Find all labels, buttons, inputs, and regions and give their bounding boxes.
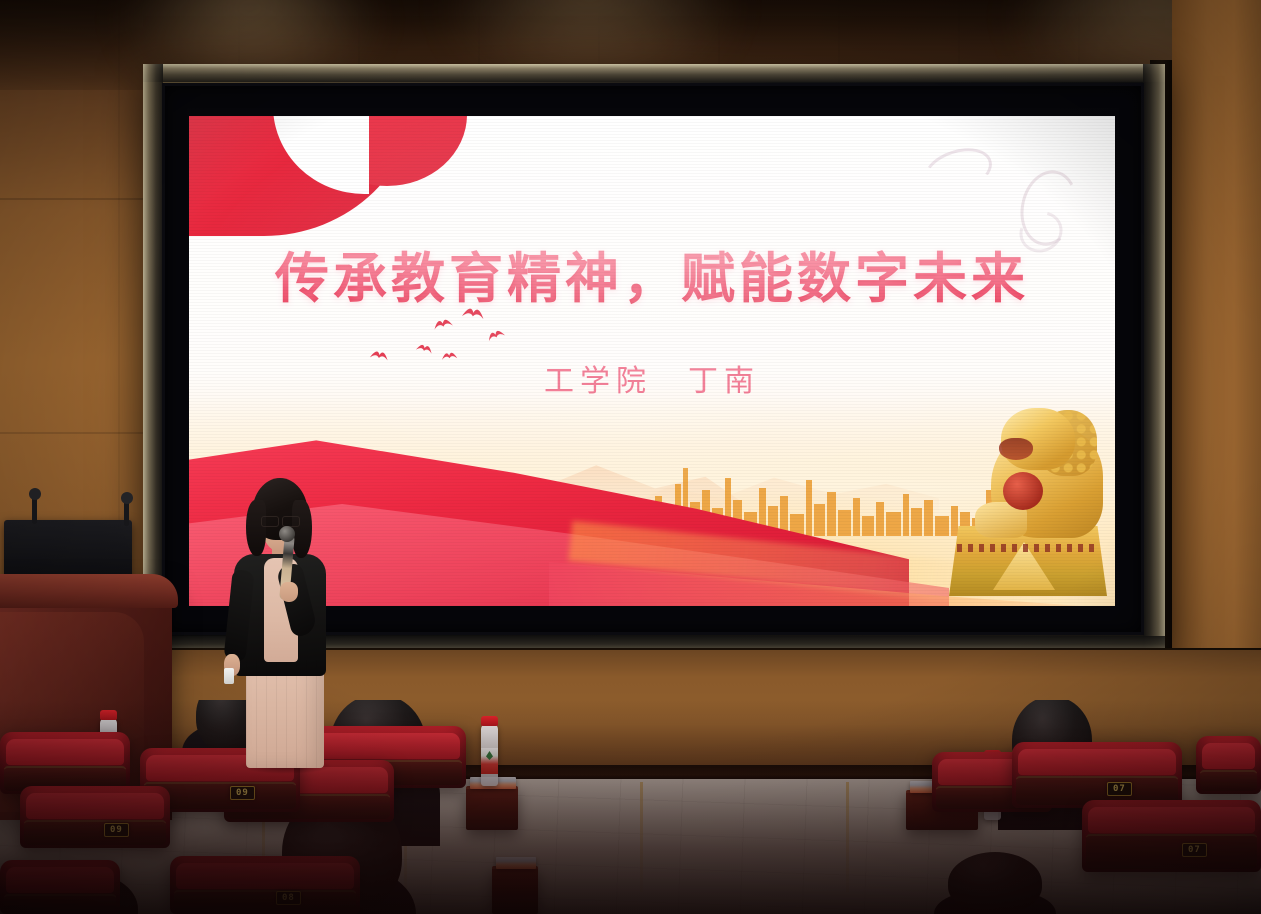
- screen-bezel-left: [143, 64, 163, 652]
- audience-desk: [466, 786, 518, 830]
- auditorium-seat[interactable]: 08: [170, 856, 360, 914]
- bottle-cap: [481, 716, 498, 726]
- seat-number-plate: 07: [1107, 782, 1132, 796]
- microphone-head: [279, 526, 295, 542]
- slide-title: 传承教育精神，赋能数字未来: [189, 234, 1115, 313]
- seat-number-plate: 09: [104, 823, 129, 837]
- bird-icon: [484, 325, 508, 348]
- attendee-head: [948, 852, 1042, 914]
- seat-back-panel: [174, 890, 356, 911]
- presenter-hair-side: [292, 500, 312, 558]
- water-bottle[interactable]: [481, 724, 498, 786]
- auditorium-scene: 传承教育精神，赋能数字未来 工学院 丁南: [0, 0, 1261, 914]
- seat-back-panel: [4, 894, 116, 911]
- skyline-building: [806, 480, 812, 536]
- podium-microphone-head: [121, 492, 133, 504]
- bottle-cap: [100, 710, 117, 720]
- presenter-hair-side: [246, 500, 266, 556]
- auditorium-seat[interactable]: [1196, 736, 1261, 794]
- auditorium-seat[interactable]: [0, 860, 120, 914]
- seat-cushion: [1088, 807, 1255, 833]
- slide-subtitle: 工学院 丁南: [189, 356, 1115, 400]
- seat-cushion: [1202, 743, 1255, 769]
- seat-cushion: [6, 739, 124, 765]
- seat-number-plate: 08: [276, 891, 301, 905]
- presenter-right-hand: [280, 582, 298, 602]
- seat-number-plate: 09: [230, 786, 255, 800]
- auditorium-seat[interactable]: 09: [20, 786, 170, 848]
- skyline-building: [814, 504, 825, 536]
- auditorium-seat[interactable]: 07: [1012, 742, 1182, 808]
- right-wood-column: [1172, 0, 1261, 700]
- seat-back-panel: [1086, 834, 1257, 869]
- seat-back-panel: [24, 820, 166, 845]
- presenter-skirt-pleats: [246, 660, 324, 768]
- presentation-clicker[interactable]: [224, 668, 234, 684]
- auditorium-seat[interactable]: 07: [1082, 800, 1261, 872]
- eyeglasses-icon: [261, 516, 300, 525]
- audience-area: 0909080707: [0, 700, 1261, 914]
- skyline-building: [876, 502, 884, 536]
- screen-bezel-top: [143, 64, 1165, 82]
- skyline-building: [853, 498, 860, 536]
- skyline-building: [838, 510, 851, 536]
- seat-back-panel: [1200, 770, 1257, 791]
- seat-cushion: [176, 863, 354, 889]
- podium-microphone-stem: [32, 496, 37, 524]
- guardian-lion-statue: [949, 396, 1109, 596]
- skyline-building: [903, 494, 909, 536]
- skyline-building: [827, 492, 836, 536]
- audience-desk: [492, 866, 538, 914]
- auditorium-seat[interactable]: [0, 732, 130, 794]
- lion-muzzle: [999, 438, 1033, 460]
- seat-cushion: [6, 867, 114, 893]
- podium-top-surface: [0, 574, 178, 608]
- podium-microphone-head: [29, 488, 41, 500]
- seat-number-plate: 07: [1182, 843, 1207, 857]
- screen-bezel-right: [1143, 64, 1165, 652]
- skyline-building: [911, 508, 922, 536]
- lion-pedestal-trim: [957, 544, 1097, 552]
- skyline-building: [862, 516, 874, 536]
- skyline-building: [935, 516, 949, 536]
- bird-icon: [431, 314, 456, 339]
- seat-cushion: [26, 793, 164, 819]
- swirl-decoration-icon: [918, 140, 998, 202]
- lion-ball: [1003, 472, 1043, 510]
- skyline-building: [924, 500, 933, 536]
- seat-cushion: [312, 733, 460, 759]
- desk-notepad[interactable]: [496, 857, 536, 869]
- skyline-building: [886, 512, 901, 536]
- seat-cushion: [1018, 749, 1176, 775]
